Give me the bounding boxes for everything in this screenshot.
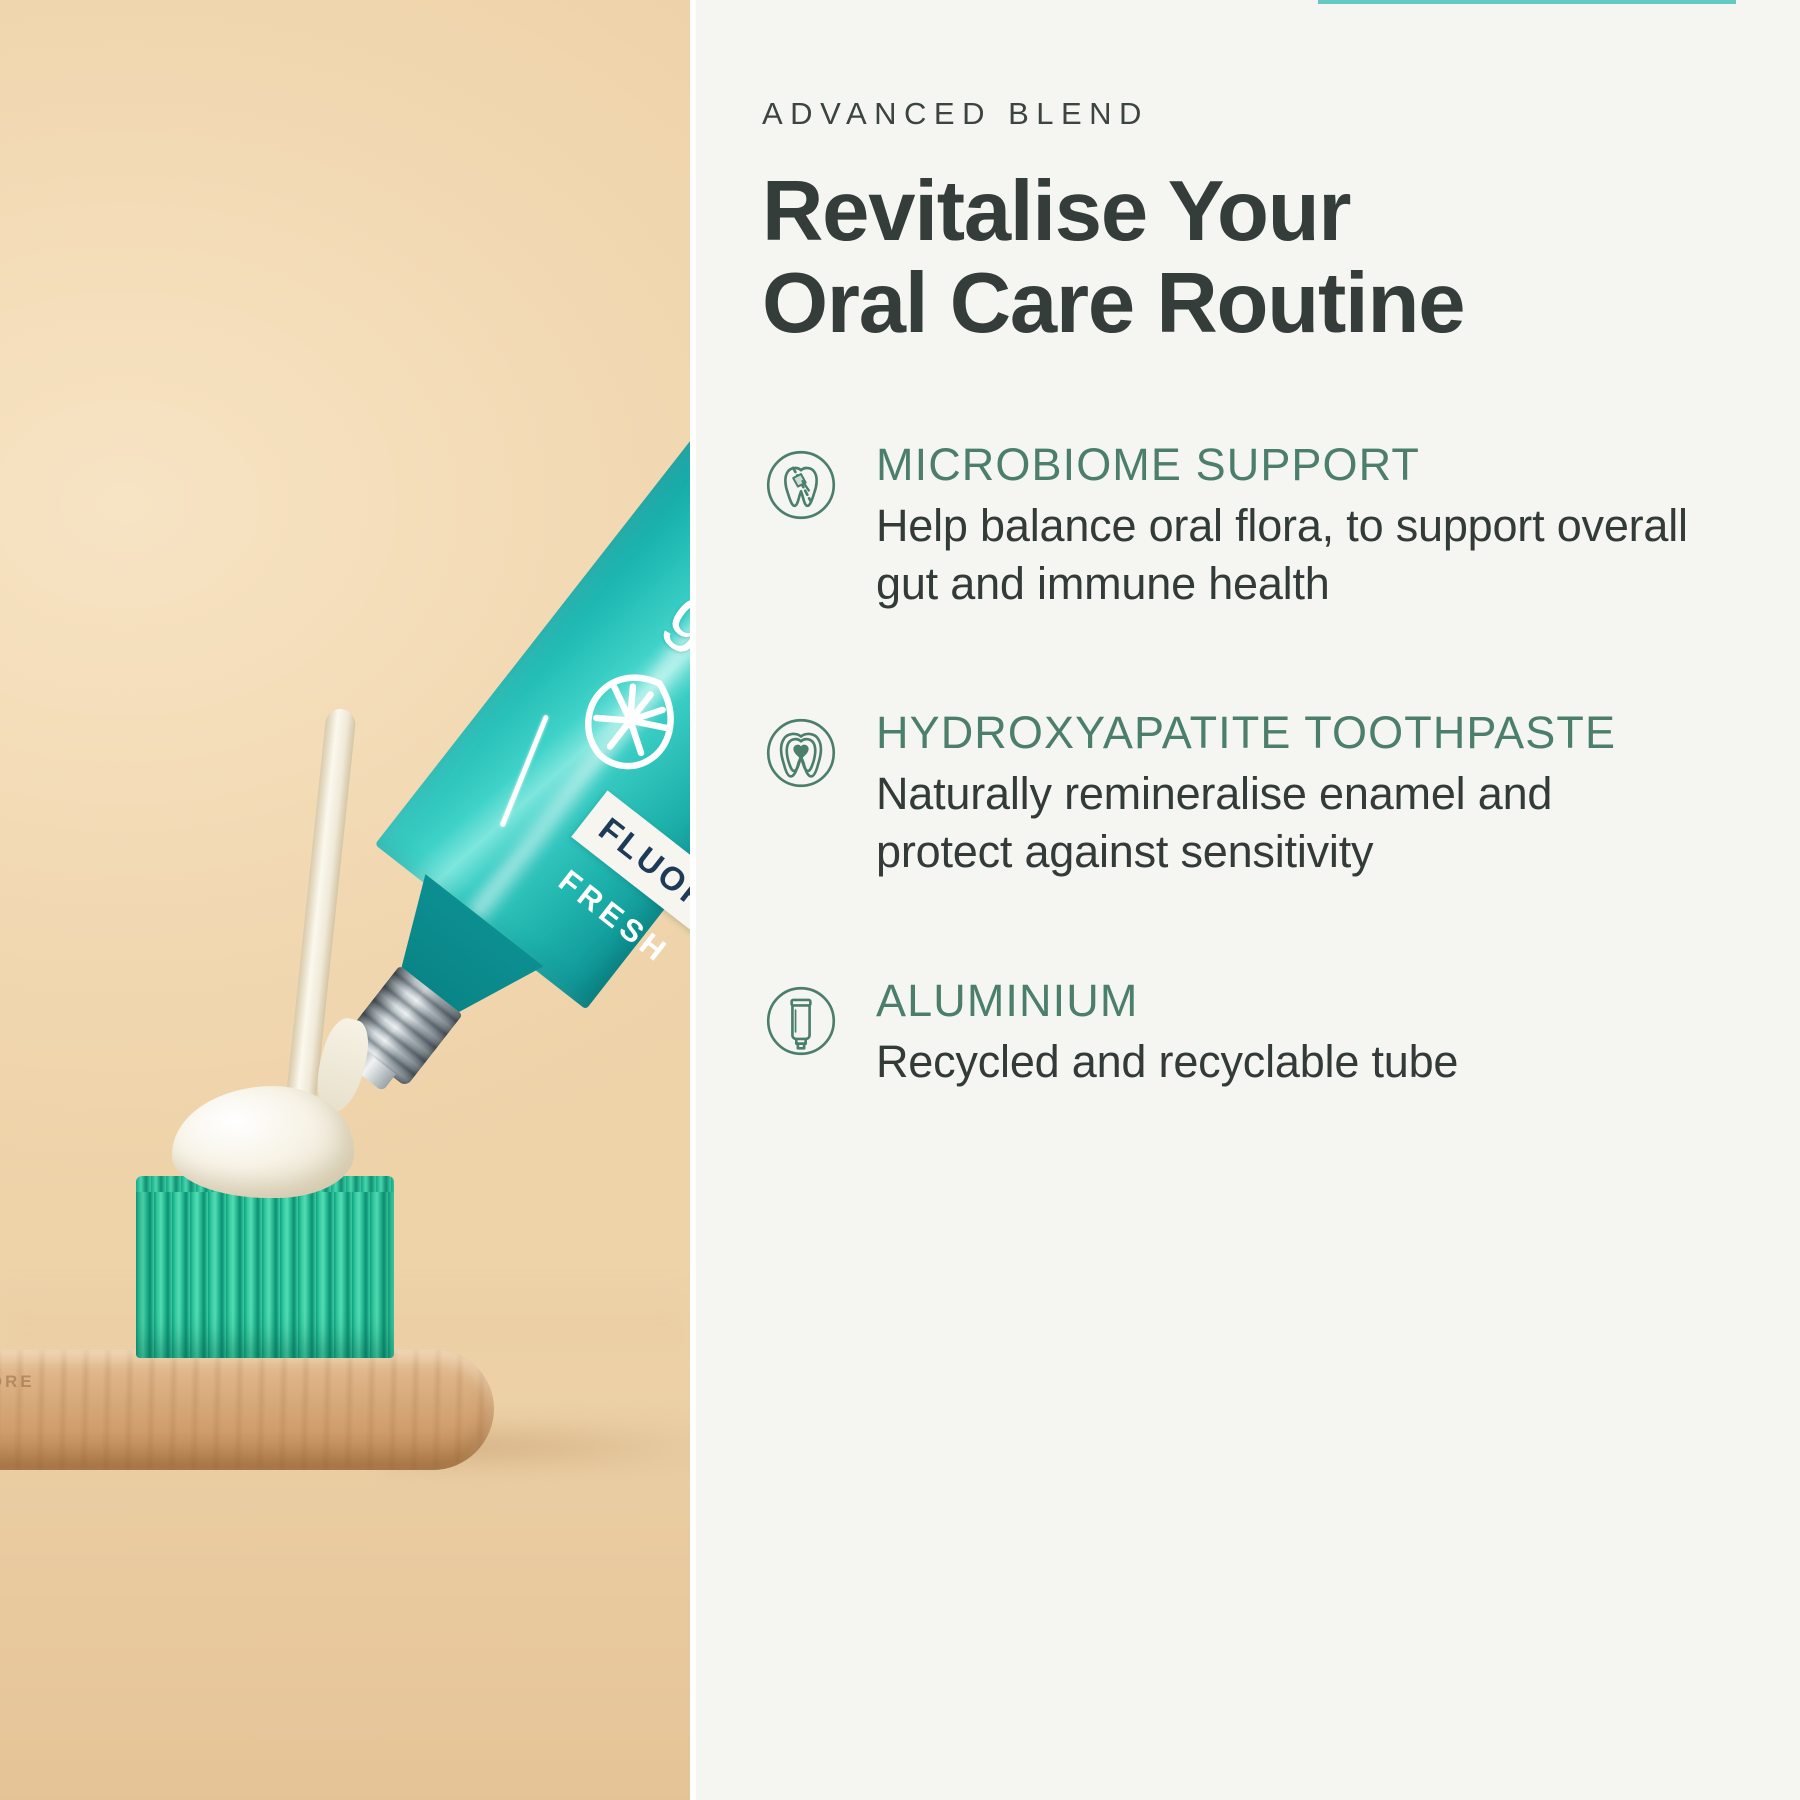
paste-blob xyxy=(172,1086,354,1198)
info-panel: ADVANCED BLEND Revitalise Your Oral Care… xyxy=(696,0,1800,1800)
brush-bristles xyxy=(136,1180,394,1358)
headline-line-1: Revitalise Your xyxy=(762,166,1688,258)
product-photo: geor FLUORIDE FRESH FLORE xyxy=(0,0,690,1800)
toothpaste-tube: geor FLUORIDE FRESH xyxy=(338,403,690,1156)
feature-description: Recycled and recyclable tube xyxy=(876,1033,1688,1092)
feature-description: Naturally remineralise enamel and protec… xyxy=(876,765,1688,882)
feature-title: ALUMINIUM xyxy=(876,974,1688,1027)
feature-title: HYDROXYAPATITE TOOTHPASTE xyxy=(876,706,1688,759)
tooth-heart-circle-icon xyxy=(762,714,840,792)
tooth-brush-circle-icon xyxy=(762,446,840,524)
feature-title: MICROBIOME SUPPORT xyxy=(876,438,1688,491)
page-title: Revitalise Your Oral Care Routine xyxy=(762,166,1688,350)
headline-line-2: Oral Care Routine xyxy=(762,258,1688,350)
feature-item: HYDROXYAPATITE TOOTHPASTE Naturally remi… xyxy=(762,706,1688,882)
feature-description: Help balance oral flora, to support over… xyxy=(876,497,1688,614)
feature-item: ALUMINIUM Recycled and recyclable tube xyxy=(762,974,1688,1092)
handle-engraving: FLORE xyxy=(0,1372,142,1392)
eyebrow-label: ADVANCED BLEND xyxy=(762,96,1688,132)
promo-graphic: geor FLUORIDE FRESH FLORE xyxy=(0,0,1800,1800)
feature-item: MICROBIOME SUPPORT Help balance oral flo… xyxy=(762,438,1688,614)
accent-top-rule xyxy=(1318,0,1736,4)
feature-list: MICROBIOME SUPPORT Help balance oral flo… xyxy=(762,438,1688,1092)
toothpaste-tube-circle-icon xyxy=(762,982,840,1060)
toothbrush: FLORE xyxy=(0,1268,554,1528)
bamboo-handle xyxy=(0,1350,494,1470)
